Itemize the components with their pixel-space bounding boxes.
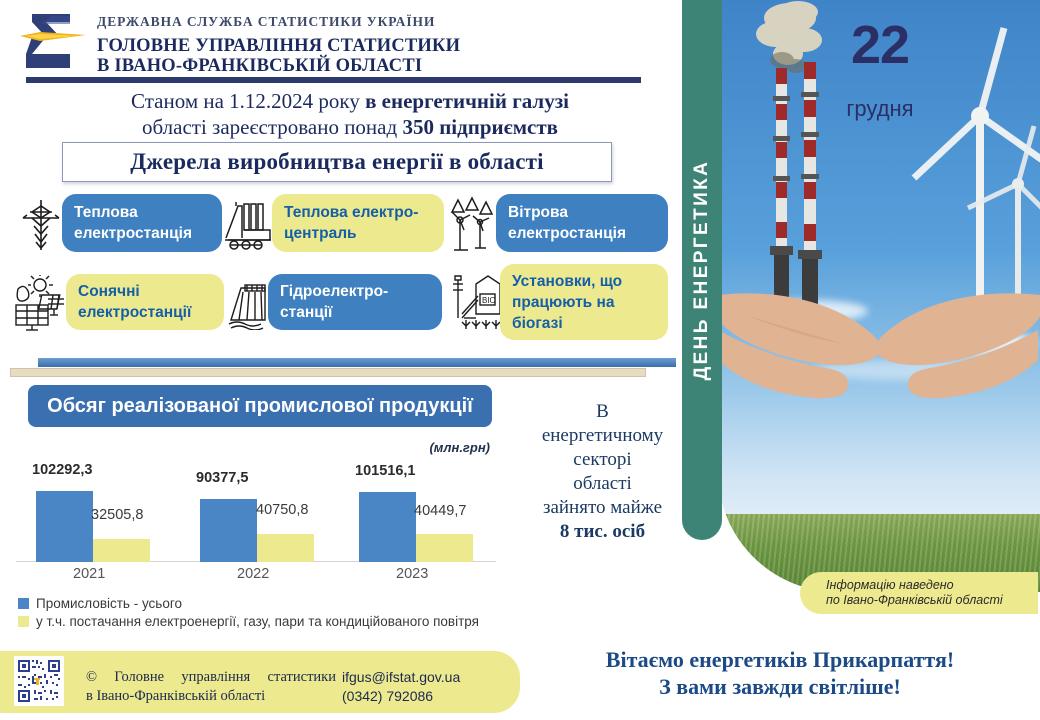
bar-value-industry-2022: 90377,5 <box>196 470 248 486</box>
employment-line6: 8 тис. осіб <box>560 521 645 542</box>
smokestacks-and-turbines-graphic <box>718 0 1040 592</box>
source-label: Вітрова електростанція <box>508 202 656 244</box>
source-label: Теплова електростанція <box>74 202 210 244</box>
bar-value-industry-2023: 101516,1 <box>355 463 415 479</box>
bar-value-energy-2022: 40750,8 <box>256 502 308 518</box>
source-label: Установки, що працюють на біогазі <box>512 271 656 334</box>
chart-title-text: Обсяг реалізованої промислової продукції <box>47 395 473 418</box>
employment-line4: області <box>573 473 632 494</box>
x-tick-2023: 2023 <box>396 566 428 582</box>
decor-bar-tan <box>10 368 646 377</box>
x-tick-2022: 2022 <box>237 566 269 582</box>
chart-title-box: Обсяг реалізованої промислової продукції <box>28 385 492 427</box>
statistics-sigma-logo-icon <box>18 10 90 72</box>
employment-line1: В <box>596 401 609 422</box>
decor-bar-blue <box>38 358 676 367</box>
bar-energy-2023 <box>416 534 473 562</box>
employment-note: В енергетичному секторі області зайнято … <box>520 400 685 544</box>
employment-line5: зайнято майже <box>543 497 662 518</box>
vertical-title: ДЕНЬ ЕНЕРГЕТИКА <box>691 160 713 381</box>
legend-item-industry: Промисловість - усього <box>18 596 479 611</box>
chart-units-label: (млн.грн) <box>380 440 490 455</box>
infographic-page: 22 грудня ДЕНЬ ЕНЕРГЕТИКА Інформацію нав… <box>0 0 1040 720</box>
source-card-solar-power-plants[interactable]: Сонячні електростанції <box>66 274 224 330</box>
intro-plain-1: Станом на 1.12.2024 року <box>131 89 365 113</box>
bar-energy-2021 <box>93 539 150 562</box>
header-divider <box>26 77 641 83</box>
chart-legend: Промисловість - усього у т.ч. постачання… <box>18 596 479 632</box>
info-note-line1: Інформацію наведено <box>826 578 1038 593</box>
source-card-chp[interactable]: Теплова електро-централь <box>272 194 444 252</box>
bar-industry-2022 <box>200 499 257 562</box>
power-pylon-icon <box>18 196 64 252</box>
greeting-line2: З вами завжди світліше! <box>530 673 1030 700</box>
info-note-line2: по Івано-Франківській області <box>826 593 1038 608</box>
footer-copyright-line2: в Івано-Франківській області <box>86 687 336 706</box>
legend-swatch-blue <box>18 598 29 609</box>
greeting-block: Вітаємо енергетиків Прикарпаття! З вами … <box>530 646 1030 700</box>
qr-code-icon[interactable] <box>14 656 64 706</box>
day-month: грудня <box>810 96 950 122</box>
legend-label-industry: Промисловість - усього <box>36 596 182 611</box>
info-note: Інформацію наведено по Івано-Франківські… <box>800 572 1038 614</box>
employment-line3: секторі <box>573 449 631 470</box>
footer-phone: (0342) 792086 <box>342 687 522 706</box>
source-card-biogas-installations[interactable]: Установки, що працюють на біогазі <box>500 264 668 340</box>
source-label: Сонячні електростанції <box>78 281 212 323</box>
org-name-main-dept: ГОЛОВНЕ УПРАВЛІННЯ СТАТИСТИКИ <box>97 36 460 56</box>
sources-title-box: Джерела виробництва енергії в області <box>62 142 612 182</box>
thermal-plant-icon <box>222 198 274 252</box>
bar-value-energy-2023: 40449,7 <box>414 503 466 519</box>
bar-value-industry-2021: 102292,3 <box>32 462 92 478</box>
intro-bold-1: в енергетичній галузі <box>365 89 569 113</box>
org-name-region: В ІВАНО-ФРАНКІВСЬКІЙ ОБЛАСТІ <box>97 56 422 76</box>
bar-industry-2021 <box>36 491 93 562</box>
source-card-hydro-power-plants[interactable]: Гідроелектро-станції <box>268 274 442 330</box>
energy-day-vertical-banner: ДЕНЬ ЕНЕРГЕТИКА <box>682 0 722 540</box>
footer-contacts: ifgus@ifstat.gov.ua (0342) 792086 <box>342 668 522 706</box>
employment-line2: енергетичному <box>542 425 663 446</box>
legend-item-energy-supply: у т.ч. постачання електроенергії, газу, … <box>18 614 479 629</box>
hydro-dam-icon <box>225 280 271 330</box>
footer-copyright-line1: © Головне управління статистики <box>86 668 336 687</box>
solar-panels-icon <box>10 275 68 331</box>
footer-email[interactable]: ifgus@ifstat.gov.ua <box>342 668 522 687</box>
legend-swatch-yellow <box>18 616 29 627</box>
bar-industry-2023 <box>359 492 416 562</box>
greeting-line1: Вітаємо енергетиків Прикарпаття! <box>530 646 1030 673</box>
x-tick-2021: 2021 <box>73 566 105 582</box>
sources-title-text: Джерела виробництва енергії в області <box>130 149 543 175</box>
energy-photo <box>718 0 1040 592</box>
source-label: Гідроелектро-станції <box>280 281 430 323</box>
org-name-state-service: ДЕРЖАВНА СЛУЖБА СТАТИСТИКИ УКРАЇНИ <box>97 14 435 30</box>
wind-turbines-icon <box>448 196 496 252</box>
source-card-thermal-power-plant[interactable]: Теплова електростанція <box>62 194 222 252</box>
bar-value-energy-2021: 32505,8 <box>91 507 143 523</box>
legend-label-energy-supply: у т.ч. постачання електроенергії, газу, … <box>36 614 479 629</box>
svg-text:BIO: BIO <box>482 296 496 305</box>
source-card-wind-power-plant[interactable]: Вітрова електростанція <box>496 194 668 252</box>
source-label: Теплова електро-централь <box>284 202 432 244</box>
footer-copyright: © Головне управління статистики в Івано-… <box>86 668 336 706</box>
intro-statement: Станом на 1.12.2024 року в енергетичній … <box>60 88 640 140</box>
intro-bold-2: 350 підприємств <box>402 115 558 139</box>
bar-energy-2022 <box>257 534 314 562</box>
biogas-plant-icon: BIO <box>448 272 506 330</box>
intro-plain-2: області зареєстровано понад <box>142 115 402 139</box>
day-number: 22 <box>810 14 950 76</box>
